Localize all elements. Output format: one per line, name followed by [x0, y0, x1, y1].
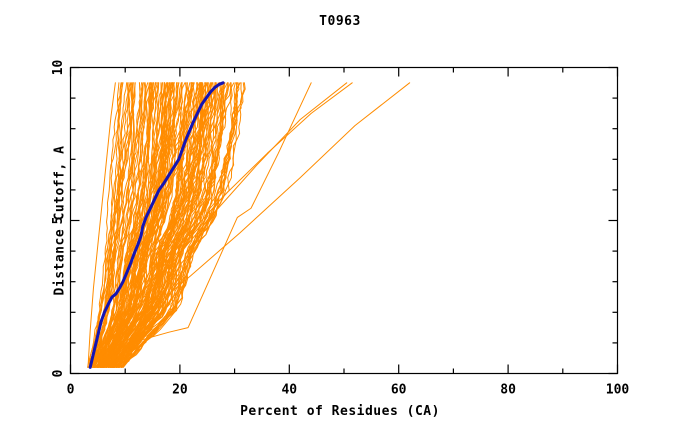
x-tick-label: 40: [281, 383, 297, 398]
x-tick-label: 60: [391, 383, 407, 398]
y-tick-label: 0: [51, 369, 66, 377]
x-tick-label: 100: [606, 383, 630, 398]
x-tick-label: 80: [500, 383, 516, 398]
y-tick-label: 5: [51, 217, 66, 225]
x-tick-label: 0: [67, 383, 75, 398]
curve-layer: [88, 83, 410, 368]
x-tick-label: 20: [172, 383, 188, 398]
figure-canvas: T0963 Distance Cutoff, A Percent of Resi…: [0, 0, 680, 440]
y-tick-label: 10: [51, 60, 66, 76]
plot-area: 0204060801000510: [0, 0, 680, 440]
